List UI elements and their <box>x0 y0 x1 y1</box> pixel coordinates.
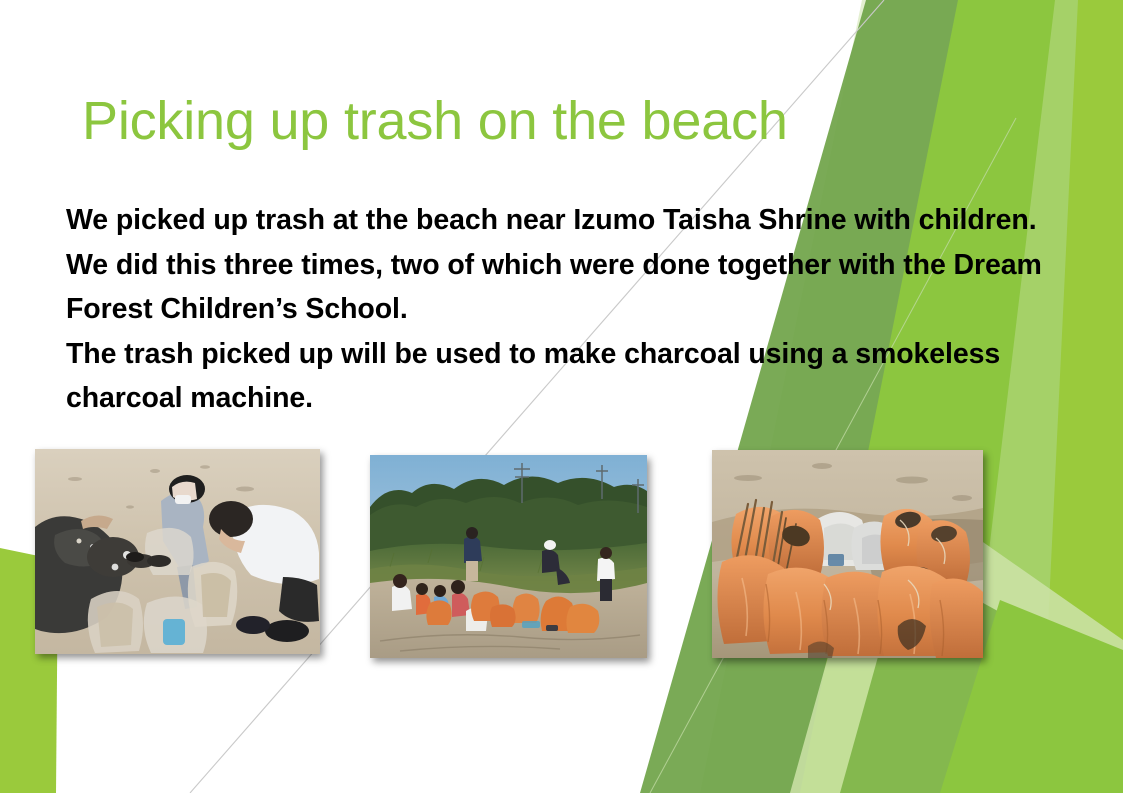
photo-pile-of-orange-sacks[interactable] <box>712 450 983 658</box>
slide-canvas: Picking up trash on the beach We picked … <box>0 0 1123 793</box>
photo-1-artwork <box>35 449 320 654</box>
page-title: Picking up trash on the beach <box>82 92 902 150</box>
photo-2-artwork <box>370 455 647 658</box>
body-text-block: We picked up trash at the beach near Izu… <box>66 198 1056 421</box>
body-paragraph-1: We picked up trash at the beach near Izu… <box>66 198 1056 332</box>
body-paragraph-2: The trash picked up will be used to make… <box>66 332 1056 421</box>
photo-beach-cleanup-bags[interactable] <box>35 449 320 654</box>
photo-beach-group-with-children[interactable] <box>370 455 647 658</box>
photo-3-artwork <box>712 450 983 658</box>
